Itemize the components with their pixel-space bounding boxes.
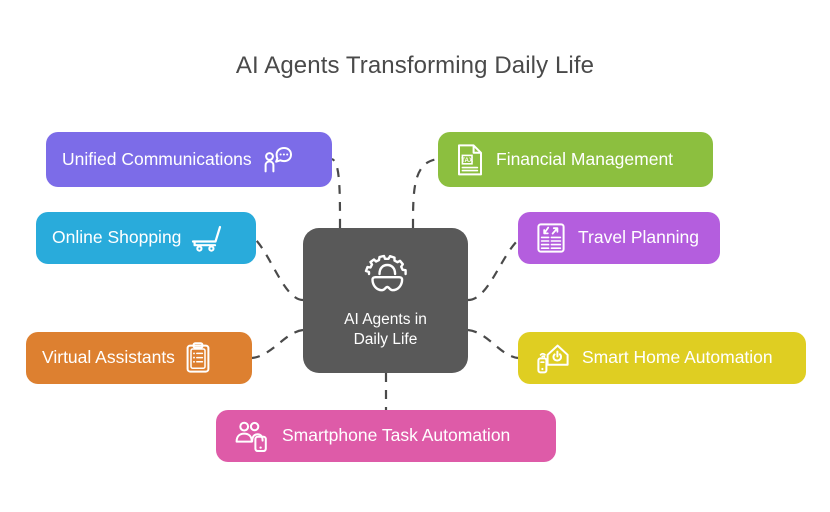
center-node-label-line1: AI Agents in [344, 311, 427, 328]
connector-financial-management [413, 159, 438, 228]
branch-label-travel-planning: Travel Planning [578, 229, 699, 247]
branch-label-online-shopping: Online Shopping [52, 229, 181, 247]
connector-travel-planning [468, 240, 518, 300]
connector-smart-home-automation [468, 330, 518, 358]
branch-label-smart-home-automation: Smart Home Automation [582, 349, 773, 367]
branch-label-financial-management: Financial Management [496, 151, 673, 169]
connector-virtual-assistants [252, 330, 303, 358]
branch-node-financial-management[interactable]: TAX Financial Management [438, 132, 713, 187]
center-node-label-line2: Daily Life [354, 331, 418, 348]
smart-home-remote-icon [536, 341, 570, 375]
tax-document-icon: TAX [456, 143, 484, 177]
branch-label-virtual-assistants: Virtual Assistants [42, 349, 175, 367]
branch-node-travel-planning[interactable]: Travel Planning [518, 212, 720, 264]
center-node-label: AI Agents in Daily Life [344, 310, 427, 350]
people-smartphone-icon [234, 420, 270, 452]
connector-online-shopping [256, 240, 303, 300]
center-node[interactable]: AI Agents in Daily Life [303, 228, 468, 373]
mindmap-diagram: AI Agents Transforming Daily Life [0, 0, 830, 512]
branch-node-unified-communications[interactable]: Unified Communications [46, 132, 332, 187]
branch-node-smart-home-automation[interactable]: Smart Home Automation [518, 332, 806, 384]
tax-document-icon-text: TAX [461, 156, 474, 163]
branch-node-online-shopping[interactable]: Online Shopping [36, 212, 256, 264]
branch-label-unified-communications: Unified Communications [62, 151, 252, 169]
person-speech-bubble-icon [262, 146, 292, 174]
branch-label-smartphone-task-automation: Smartphone Task Automation [282, 427, 510, 445]
branch-node-virtual-assistants[interactable]: Virtual Assistants [26, 332, 252, 384]
departure-board-icon [536, 222, 566, 254]
clipboard-list-icon [185, 342, 211, 374]
shopping-cart-icon [191, 224, 223, 252]
connector-unified-communications [332, 159, 340, 228]
robot-head-gear-icon [358, 251, 414, 300]
branch-node-smartphone-task-automation[interactable]: Smartphone Task Automation [216, 410, 556, 462]
